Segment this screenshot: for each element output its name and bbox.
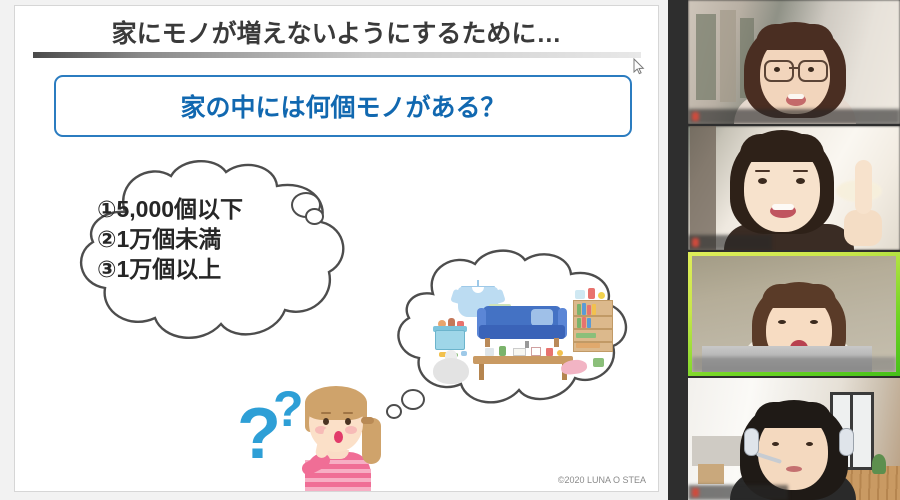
person-4-fringe	[754, 402, 832, 428]
sofa-cushion	[531, 309, 553, 326]
messy-room-illustration	[433, 278, 613, 388]
question-callout-box: 家の中には何個モノがある？	[54, 75, 632, 137]
toy-box-icon	[435, 330, 465, 350]
shirt-stripe-4	[305, 487, 371, 491]
person-1-fringe	[756, 24, 834, 50]
sofa-leg-left	[485, 338, 490, 347]
book-5	[577, 318, 581, 328]
participant-video-1	[688, 0, 900, 124]
book-7	[587, 318, 591, 328]
participant-video-panel[interactable]	[668, 0, 900, 500]
eyeglasses-bridge	[789, 67, 799, 69]
person-4-eye-right	[806, 442, 813, 446]
coffee-table-icon	[473, 356, 573, 364]
participant-name-bar-4	[688, 485, 788, 500]
trash-bag-icon	[433, 358, 469, 384]
raised-index-finger	[855, 160, 872, 214]
table-clutter-pen	[525, 341, 529, 348]
thinking-woman-illustration	[283, 384, 391, 492]
person-1-eye-left	[774, 67, 780, 72]
person-4-mouth	[786, 466, 802, 472]
person-3-eye-left	[778, 320, 786, 324]
person-2-teeth	[772, 204, 794, 210]
sofa-seat	[479, 325, 565, 339]
table-clutter-paper	[513, 348, 526, 356]
participant-name-bar-1	[688, 109, 900, 124]
option-item-3: ③1万個以上	[97, 254, 347, 284]
person-2-eyebrow-left	[755, 170, 770, 172]
person-2-eye-left	[758, 178, 767, 184]
bookshelf-row-2	[574, 328, 612, 330]
background-stool	[698, 464, 724, 484]
person-2-eyebrow-right	[793, 170, 808, 172]
room-bubble-dot-large	[401, 389, 425, 410]
person-1-teeth	[788, 94, 804, 99]
book-1	[577, 304, 581, 315]
mic-muted-icon-1	[692, 112, 699, 121]
floor-clutter-3	[461, 351, 467, 356]
option-item-2: ②1万個未満	[97, 224, 347, 254]
shelf-top-item-1	[575, 290, 585, 299]
background-shelf-b	[720, 10, 736, 102]
slide-title: 家にモノが増えないようにするために…	[15, 14, 658, 50]
person-4-eye-left	[772, 442, 779, 446]
table-clutter-1	[485, 348, 494, 356]
background-plant	[872, 454, 886, 474]
options-thought-cloud: ①5,000個以下 ②1万個未満 ③1万個以上	[63, 156, 373, 351]
background-door-2	[690, 126, 716, 250]
mouse-cursor-icon	[633, 58, 645, 76]
girl-eye-left	[323, 418, 329, 425]
shirt-stripe-3	[305, 478, 371, 482]
participant-video-3	[692, 256, 896, 372]
girl-hair-tie	[361, 417, 374, 424]
book-6	[582, 317, 586, 328]
person-2-eye-right	[796, 178, 805, 184]
participant-video-4	[688, 378, 900, 500]
table-clutter-plant	[499, 346, 506, 356]
girl-mouth	[334, 431, 343, 443]
background-shelf-a	[696, 14, 716, 100]
participant-name-bar-3	[692, 357, 896, 372]
book-4	[592, 304, 596, 315]
shared-screen-region[interactable]: 家にモノが増えないようにするために… 家の中には何個モノがある？ ①5,000個…	[0, 0, 668, 500]
girl-eyebrow-right	[343, 412, 353, 414]
stacked-books-1	[576, 333, 596, 338]
person-2-hand	[844, 210, 882, 246]
stacked-books-2	[576, 343, 600, 348]
shelf-top-item-3	[598, 292, 605, 299]
headphone-earcup-right	[839, 428, 854, 456]
participant-name-bar-2	[688, 235, 772, 250]
scattered-item-icon	[593, 358, 604, 367]
book-3	[587, 305, 591, 315]
participant-tile-1[interactable]	[688, 0, 900, 124]
participant-tile-3-active-speaker[interactable]	[688, 252, 900, 376]
participant-tile-2[interactable]	[688, 126, 900, 250]
shelf-top-item-2	[588, 288, 595, 299]
mic-muted-icon-2	[692, 238, 699, 247]
screen-share-meeting-view: 家にモノが増えないようにするために… 家の中には何個モノがある？ ①5,000個…	[0, 0, 900, 500]
presentation-slide[interactable]: 家にモノが増えないようにするために… 家の中には何個モノがある？ ①5,000個…	[14, 5, 659, 492]
girl-cheek-right	[345, 426, 357, 434]
book-2	[582, 303, 586, 315]
question-text: 家の中には何個モノがある？	[180, 88, 505, 124]
person-2-fringe	[740, 134, 824, 162]
participant-tile-4[interactable]	[688, 378, 900, 500]
girl-eye-right	[345, 418, 351, 425]
girl-eyebrow-left	[321, 412, 331, 414]
title-divider-rule	[33, 52, 641, 58]
girl-hair-top	[305, 386, 367, 420]
person-3-fringe	[762, 284, 836, 308]
table-clutter-book	[531, 347, 541, 356]
person-3-eye-right	[810, 320, 818, 324]
table-leg-left	[479, 364, 484, 380]
bookshelf-row-1	[574, 315, 612, 317]
thought-bubble-dot-small	[305, 208, 324, 225]
sofa-leg-right	[554, 338, 559, 347]
person-1-eye-right	[808, 67, 814, 72]
table-clutter-cup	[546, 348, 553, 356]
mic-muted-icon-4	[692, 488, 699, 497]
copyright-notice: ©2020 LUNA O STEA	[558, 475, 646, 485]
participant-video-2	[688, 126, 900, 250]
